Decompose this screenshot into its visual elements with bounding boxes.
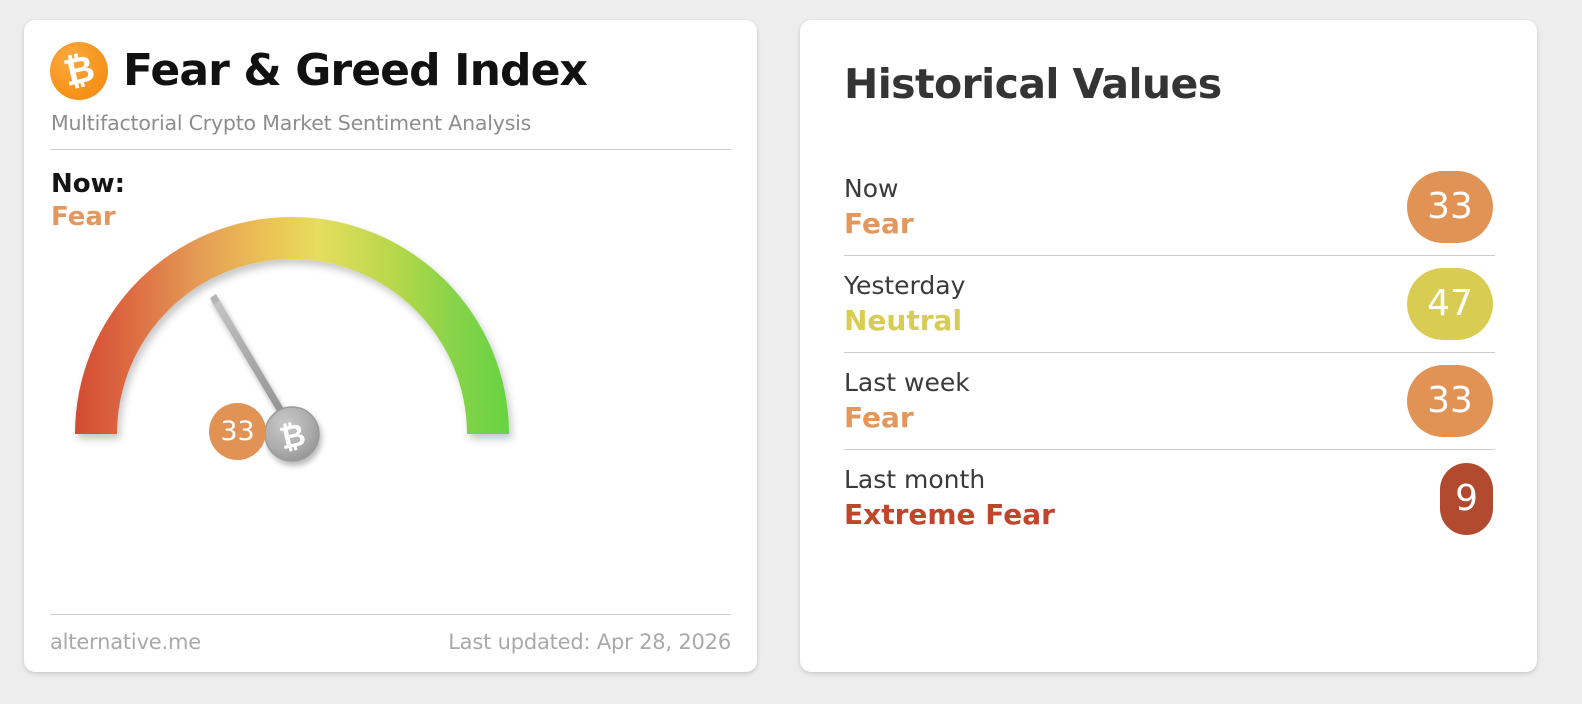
gauge-card-header: ₿ Fear & Greed Index: [50, 42, 731, 100]
page-title: Fear & Greed Index: [123, 48, 587, 94]
list-item[interactable]: Last week Fear 33: [844, 353, 1495, 450]
historical-values-card: Historical Values Now Fear 33 Yesterday …: [800, 20, 1537, 672]
header-divider: [50, 149, 731, 150]
history-period: Yesterday: [844, 273, 965, 299]
history-period: Last month: [844, 467, 1055, 493]
history-classification: Fear: [844, 403, 970, 432]
history-period: Last week: [844, 370, 970, 396]
fear-greed-gauge-card: ₿ Fear & Greed Index Multifactorial Cryp…: [24, 20, 757, 672]
history-value-text: 33: [1427, 189, 1473, 225]
gauge-hub-icon: ₿: [265, 407, 319, 461]
bitcoin-icon: ₿: [50, 42, 108, 100]
page-root: ₿ Fear & Greed Index Multifactorial Cryp…: [0, 0, 1582, 704]
history-classification: Neutral: [844, 306, 965, 335]
gauge-svg: ₿: [50, 181, 731, 539]
gauge-arc: [75, 217, 509, 434]
history-value-text: 9: [1455, 481, 1478, 517]
list-item[interactable]: Yesterday Neutral 47: [844, 256, 1495, 353]
last-updated-label: Last updated: Apr 28, 2026: [448, 630, 731, 654]
bitcoin-glyph: ₿: [60, 49, 98, 92]
gauge-card-footer: alternative.me Last updated: Apr 28, 202…: [50, 614, 731, 654]
history-value-badge: 9: [1440, 463, 1493, 535]
gauge-value-badge: 33: [209, 403, 266, 460]
history-classification: Extreme Fear: [844, 500, 1055, 529]
historical-list: Now Fear 33 Yesterday Neutral 47 Last: [844, 159, 1495, 547]
history-period: Now: [844, 176, 914, 202]
history-value-badge: 47: [1407, 268, 1493, 340]
gauge-value-text: 33: [220, 418, 254, 445]
list-item[interactable]: Now Fear 33: [844, 159, 1495, 256]
source-label[interactable]: alternative.me: [50, 630, 201, 654]
history-classification: Fear: [844, 209, 914, 238]
footer-divider: [50, 614, 731, 615]
page-subtitle: Multifactorial Crypto Market Sentiment A…: [51, 111, 731, 135]
historical-title: Historical Values: [844, 64, 1495, 105]
history-value-text: 47: [1427, 286, 1473, 322]
gauge-chart: ₿ 33: [50, 181, 731, 539]
list-item[interactable]: Last month Extreme Fear 9: [844, 450, 1495, 547]
history-value-badge: 33: [1407, 365, 1493, 437]
history-value-text: 33: [1427, 383, 1473, 419]
history-value-badge: 33: [1407, 171, 1493, 243]
